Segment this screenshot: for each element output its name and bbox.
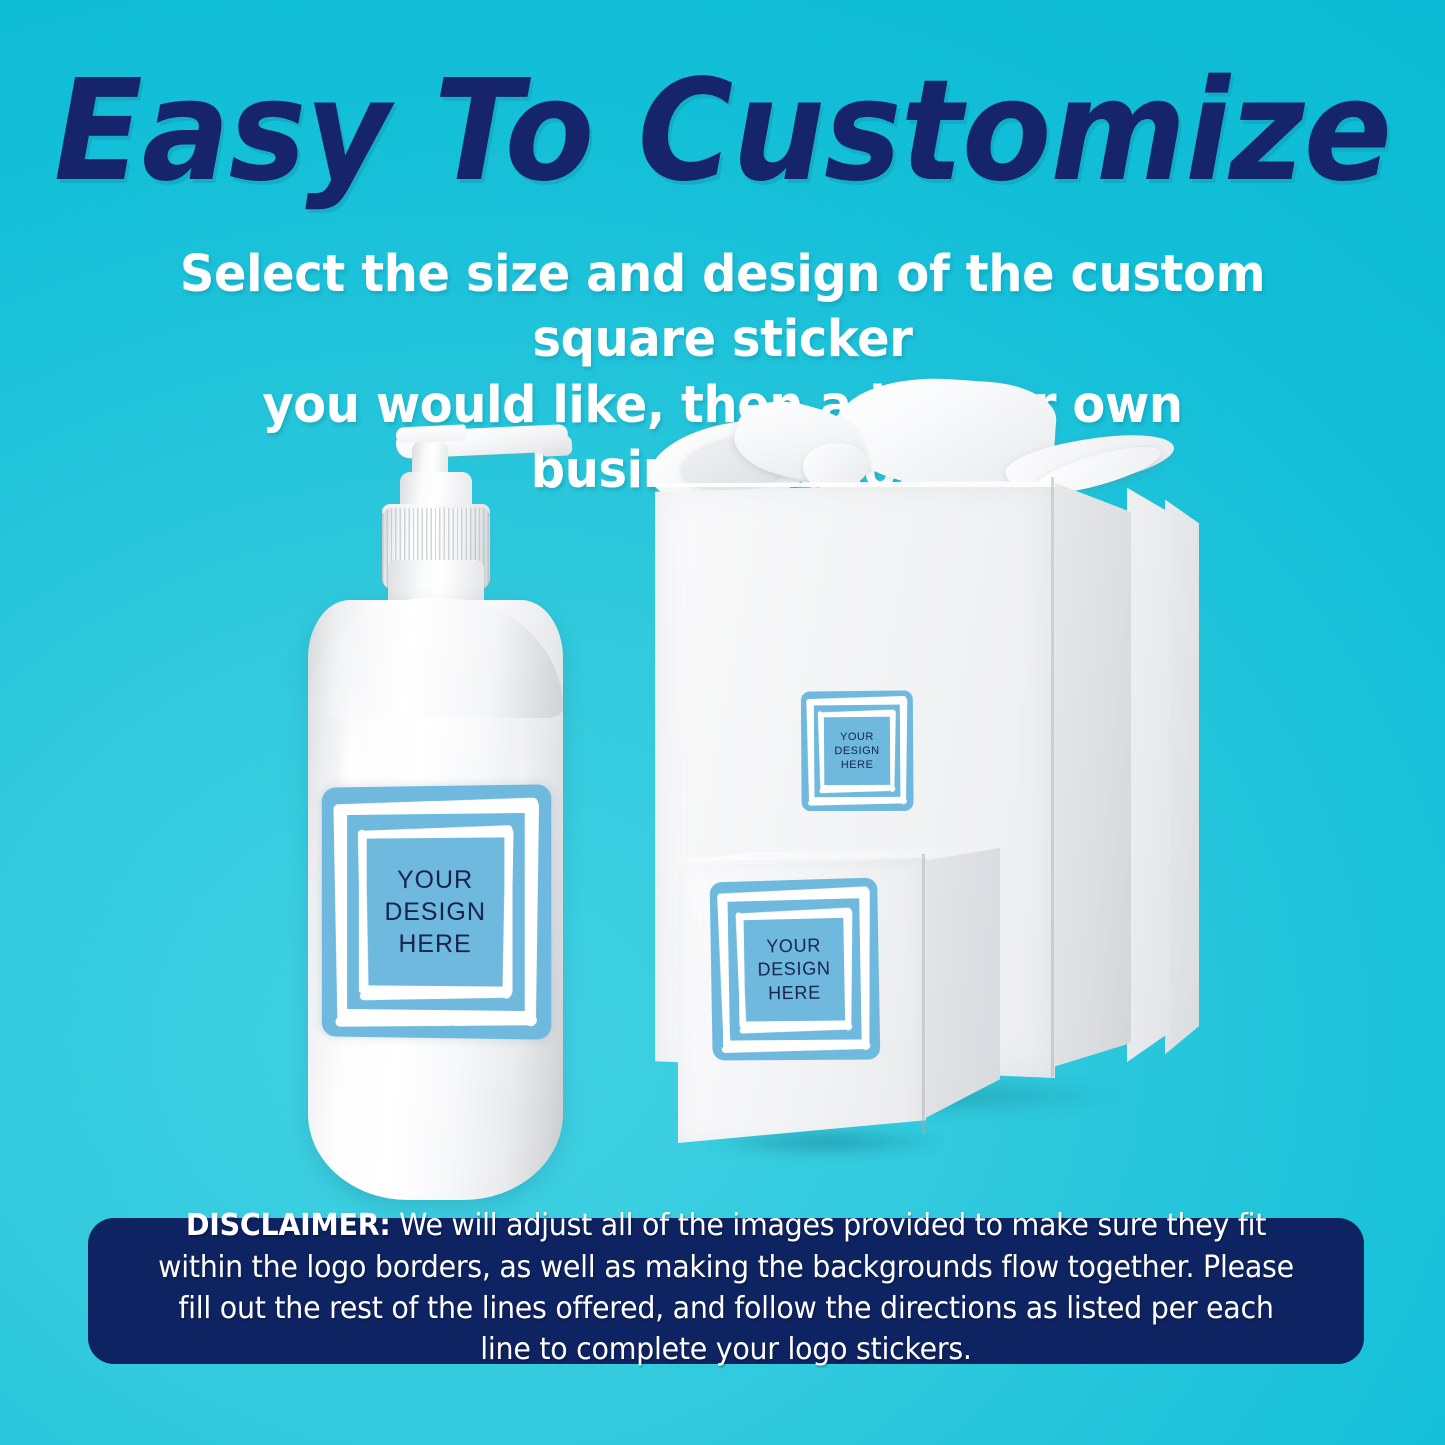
small-box: YOUR DESIGN HERE (678, 858, 1008, 1158)
disclaimer-text: DISCLAIMER: We will adjust all of the im… (154, 1205, 1298, 1371)
small-box-corner-seam (922, 854, 925, 1134)
sticker-preview-bottle[interactable]: YOUR DESIGN HERE (322, 784, 551, 1039)
disclaimer-banner: DISCLAIMER: We will adjust all of the im… (88, 1218, 1364, 1364)
sticker-label: YOUR DESIGN HERE (384, 864, 486, 961)
pump-bottle: YOUR DESIGN HERE (296, 420, 576, 1180)
gift-box-side-panel (1053, 473, 1131, 1073)
subtitle-line-1: Select the size and design of the custom… (147, 242, 1299, 373)
small-box-side-panel (924, 848, 1000, 1130)
sticker-label: YOUR DESIGN HERE (757, 935, 831, 1005)
gift-box-corner-seam (1051, 477, 1054, 1077)
gift-box-mid-panel (1127, 483, 1169, 1068)
promo-banner: Easy To Customize Select the size and de… (0, 0, 1445, 1445)
pump-nozzle-lip (396, 424, 467, 443)
gift-box-back-panel (1165, 495, 1199, 1060)
product-mockup-scene: YOUR DESIGN HERE (0, 380, 1445, 1210)
disclaimer-label: DISCLAIMER: (186, 1208, 391, 1243)
page-title: Easy To Customize (51, 62, 1395, 202)
pump-nozzle-tip (542, 435, 573, 456)
sticker-preview-smallbox[interactable]: YOUR DESIGN HERE (710, 878, 881, 1061)
sticker-preview-giftbox[interactable]: YOUR DESIGN HERE (801, 690, 914, 811)
sticker-label: YOUR DESIGN HERE (834, 729, 879, 772)
